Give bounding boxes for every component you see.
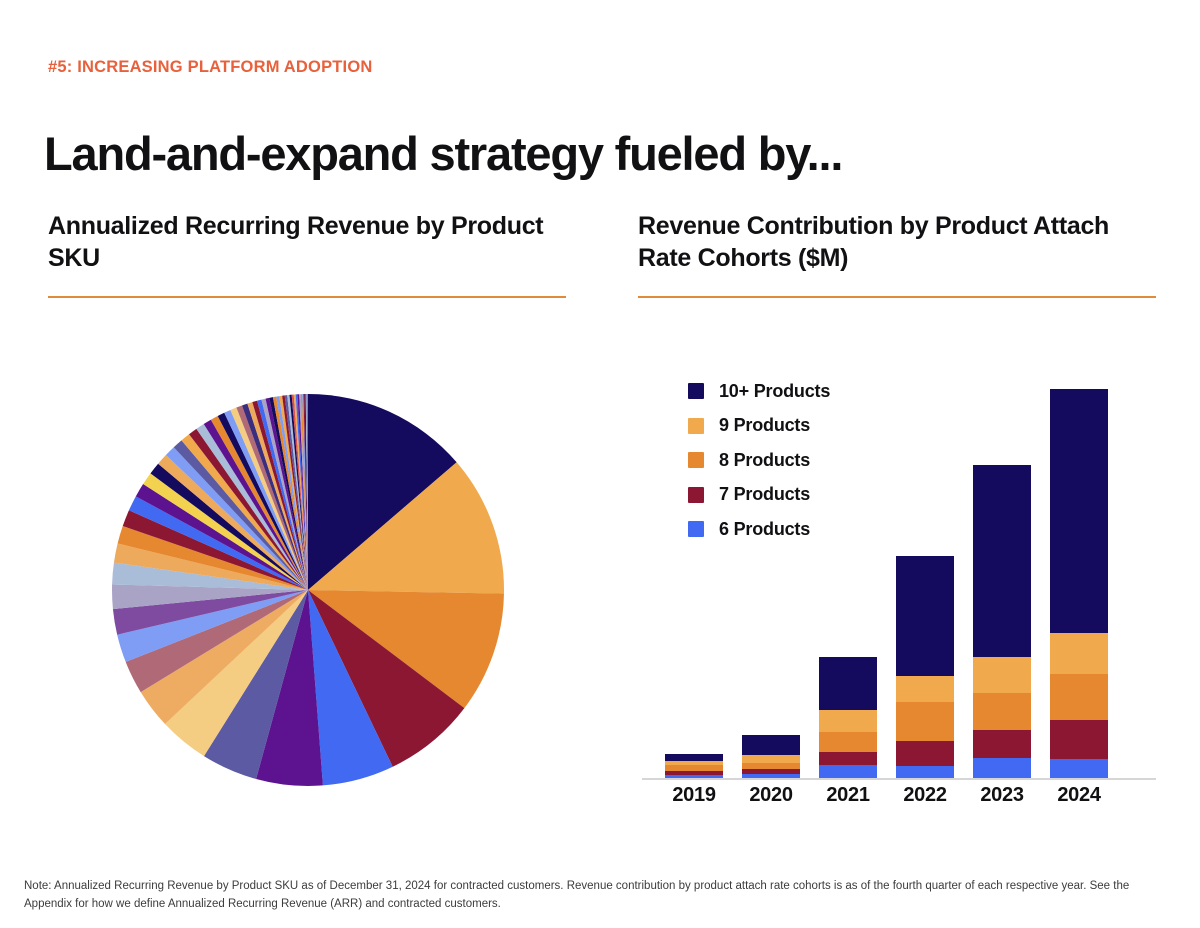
bar-segment [1050,720,1108,759]
bar-segment [896,702,954,741]
panel-left: Annualized Recurring Revenue by Product … [48,210,568,298]
panel-right-title: Revenue Contribution by Product Attach R… [638,210,1158,274]
bar-segment [896,676,954,702]
bar-segment [1050,759,1108,778]
x-axis-label: 2020 [742,784,800,807]
bar-segment [973,657,1031,693]
bar-segment [896,766,954,778]
bar-segment [973,730,1031,758]
x-axis-label: 2024 [1050,784,1108,807]
footnote: Note: Annualized Recurring Revenue by Pr… [24,878,1144,914]
bar-column[interactable] [896,556,954,778]
bar-segment [665,754,723,762]
bar-segment [819,657,877,710]
panel-left-title: Annualized Recurring Revenue by Product … [48,210,568,274]
pie-svg [110,392,506,788]
panel-right-rule [638,296,1156,298]
bar-segment [973,693,1031,731]
x-axis-label: 2019 [665,784,723,807]
bar-segment [819,732,877,752]
bar-column[interactable] [1050,389,1108,778]
x-axis-label: 2023 [973,784,1031,807]
bar-segment [1050,674,1108,720]
bar-segment [819,765,877,778]
bar-column[interactable] [819,657,877,778]
bar-segment [742,735,800,755]
bar-segment [973,758,1031,778]
slide-eyebrow: #5: INCREASING PLATFORM ADOPTION [48,58,373,77]
bar-column[interactable] [973,465,1031,778]
bar-segment [1050,389,1108,633]
bar-segment [973,465,1031,657]
panel-left-rule [48,296,566,298]
bar-segment [665,775,723,778]
bar-column[interactable] [665,754,723,778]
x-axis-label: 2022 [896,784,954,807]
page-title: Land-and-expand strategy fueled by... [44,128,842,181]
bar-segment [742,774,800,778]
bar-plot-area: 201920202021202220232024 [638,340,1168,820]
bar-segment [896,556,954,676]
panel-right: Revenue Contribution by Product Attach R… [638,210,1158,298]
x-axis-baseline [642,778,1156,780]
revenue-contribution-bar-chart: 10+ Products9 Products8 Products7 Produc… [638,340,1168,820]
x-axis-label: 2021 [819,784,877,807]
bar-segment [1050,633,1108,674]
bar-segment [819,710,877,732]
bar-segment [742,755,800,763]
bar-column[interactable] [742,735,800,778]
slide-root: #5: INCREASING PLATFORM ADOPTION Land-an… [0,0,1200,928]
arr-by-sku-pie-chart [48,340,568,800]
bar-segment [819,752,877,765]
bar-segment [896,741,954,765]
